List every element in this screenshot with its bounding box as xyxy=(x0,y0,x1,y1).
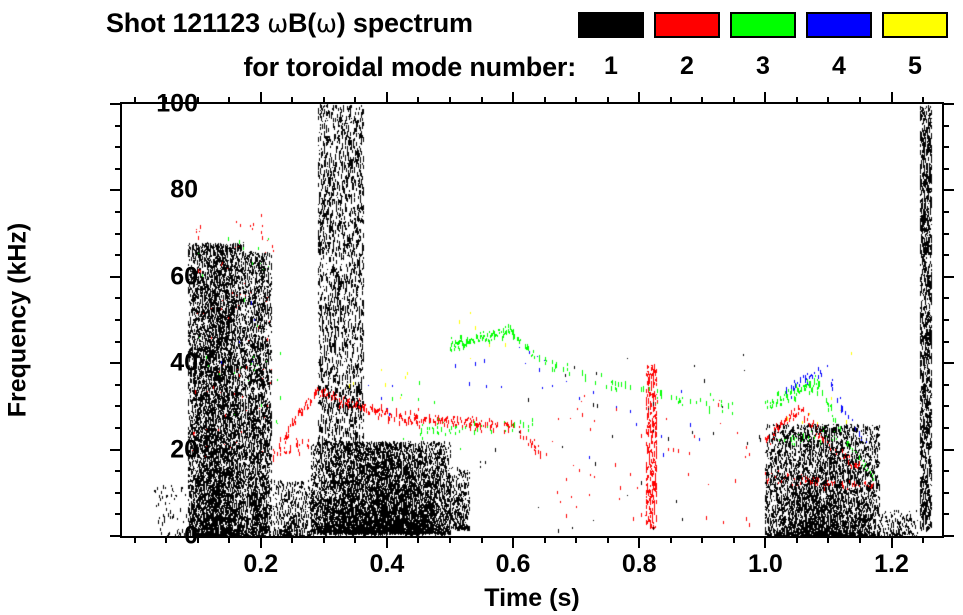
plot-frame: 020406080100 0.20.40.60.81.01.2 Frequenc… xyxy=(120,102,944,538)
y-tick xyxy=(942,146,949,148)
y-tick-label: 20 xyxy=(170,435,198,464)
x-tick xyxy=(544,97,546,104)
x-tick xyxy=(260,92,262,104)
y-tick xyxy=(942,449,954,451)
y-tick-label: 60 xyxy=(170,262,198,291)
legend-item-mode-n4: 4 xyxy=(806,12,872,80)
omega-glyph-1: ω xyxy=(267,9,288,38)
y-tick xyxy=(942,492,949,494)
x-axis-title: Time (s) xyxy=(484,584,579,613)
y-tick xyxy=(942,168,949,170)
x-tick xyxy=(638,92,640,104)
y-tick xyxy=(942,341,949,343)
x-tick xyxy=(354,97,356,104)
title-suffix: ) spectrum xyxy=(337,8,473,38)
omega-glyph-2: ω xyxy=(316,9,337,38)
x-tick-label: 0.4 xyxy=(370,550,405,579)
y-tick xyxy=(942,405,949,407)
y-tick xyxy=(942,384,949,386)
y-tick xyxy=(942,427,949,429)
y-axis-tick-labels: 020406080100 xyxy=(112,104,198,536)
spectrogram-canvas xyxy=(122,104,942,536)
x-tick-label: 1.2 xyxy=(874,550,909,579)
title-prefix: Shot 121123 xyxy=(106,8,267,38)
spectrogram-area xyxy=(122,104,942,536)
legend-label-mode-n1: 1 xyxy=(578,52,644,80)
y-axis-title: Frequency (kHz) xyxy=(4,223,33,417)
x-tick xyxy=(670,97,672,104)
y-tick xyxy=(942,189,954,191)
y-tick-label: 40 xyxy=(170,349,198,378)
y-tick xyxy=(942,362,954,364)
legend-swatch-mode-n1 xyxy=(578,12,644,38)
y-tick xyxy=(942,276,954,278)
y-tick xyxy=(942,211,949,213)
y-tick xyxy=(942,513,949,515)
y-tick xyxy=(942,103,954,105)
title-mid: B( xyxy=(288,8,316,38)
chart-title-line2: for toroidal mode number: xyxy=(106,52,576,86)
legend-label-mode-n4: 4 xyxy=(806,52,872,80)
legend-label-mode-n3: 3 xyxy=(730,52,796,80)
x-tick xyxy=(323,97,325,104)
y-tick-label: 100 xyxy=(156,90,198,119)
legend: 12345 xyxy=(578,12,958,90)
x-tick xyxy=(701,97,703,104)
x-tick xyxy=(796,97,798,104)
legend-swatch-mode-n4 xyxy=(806,12,872,38)
x-tick xyxy=(827,97,829,104)
x-tick xyxy=(512,92,514,104)
y-tick xyxy=(942,233,949,235)
x-tick xyxy=(481,97,483,104)
x-tick xyxy=(764,92,766,104)
x-tick xyxy=(386,92,388,104)
legend-item-mode-n1: 1 xyxy=(578,12,644,80)
x-tick-label: 0.6 xyxy=(496,550,531,579)
x-axis-tick-labels: 0.20.40.60.81.01.2 xyxy=(122,536,942,576)
y-tick xyxy=(942,535,954,537)
legend-item-mode-n2: 2 xyxy=(654,12,720,80)
y-tick xyxy=(942,470,949,472)
x-tick xyxy=(733,97,735,104)
x-tick xyxy=(607,97,609,104)
x-tick xyxy=(859,97,861,104)
x-tick xyxy=(922,97,924,104)
legend-label-mode-n5: 5 xyxy=(882,52,948,80)
x-tick xyxy=(417,97,419,104)
y-tick-label: 80 xyxy=(170,176,198,205)
x-tick xyxy=(134,97,136,104)
chart-title-line1: Shot 121123 ωB(ω) spectrum xyxy=(106,8,576,42)
x-tick xyxy=(291,97,293,104)
y-tick xyxy=(942,297,949,299)
y-tick xyxy=(942,319,949,321)
x-tick-label: 0.8 xyxy=(622,550,657,579)
legend-item-mode-n3: 3 xyxy=(730,12,796,80)
x-tick xyxy=(449,97,451,104)
x-tick-label: 0.2 xyxy=(243,550,278,579)
legend-swatch-mode-n3 xyxy=(730,12,796,38)
legend-label-mode-n2: 2 xyxy=(654,52,720,80)
legend-swatch-mode-n5 xyxy=(882,12,948,38)
x-tick-label: 1.0 xyxy=(748,550,783,579)
x-tick xyxy=(575,97,577,104)
x-tick xyxy=(228,97,230,104)
legend-item-mode-n5: 5 xyxy=(882,12,948,80)
chart-header: Shot 121123 ωB(ω) spectrum for toroidal … xyxy=(0,0,963,96)
y-tick xyxy=(942,254,949,256)
x-tick xyxy=(891,92,893,104)
y-tick xyxy=(942,125,949,127)
legend-swatch-mode-n2 xyxy=(654,12,720,38)
